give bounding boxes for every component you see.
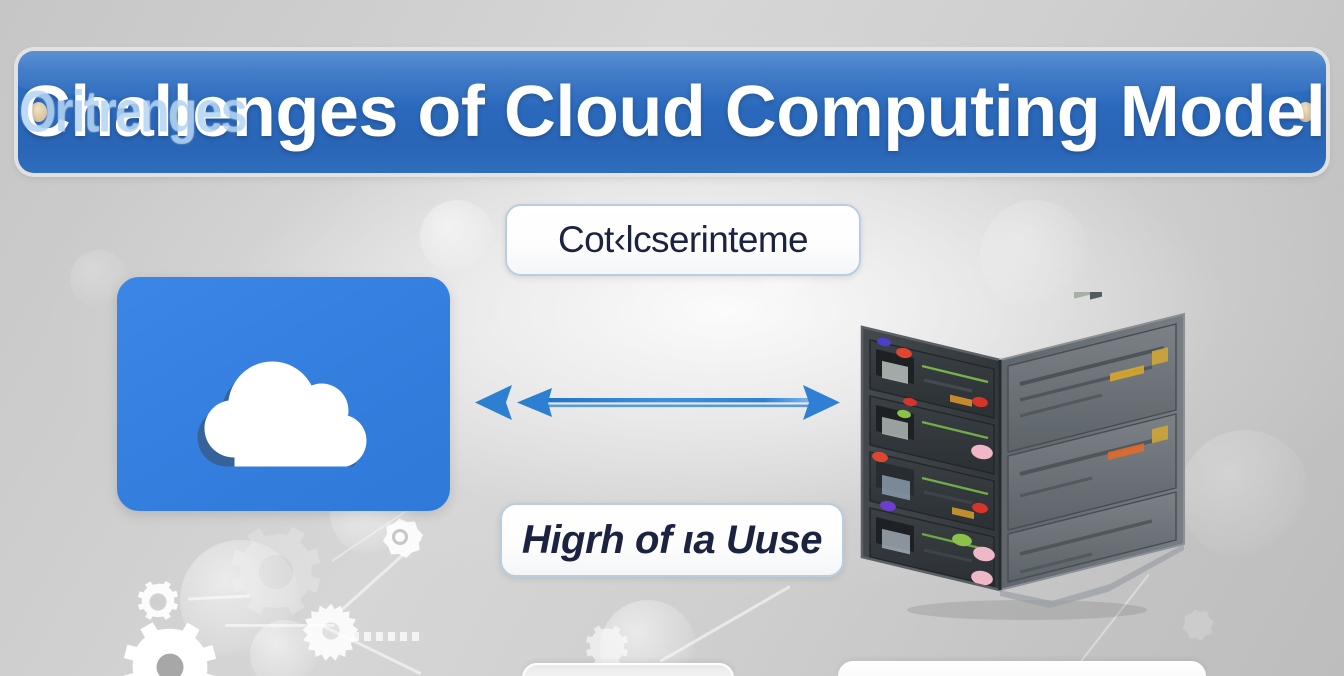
bokeh-circle	[250, 620, 320, 676]
title-wrap: Challenges of Cloud Computing Model Orit…	[19, 71, 1325, 153]
bokeh-circle	[420, 200, 494, 274]
connector-line	[225, 624, 335, 627]
slide-canvas: Challenges of Cloud Computing Model Orit…	[0, 0, 1344, 676]
label-pill-top[interactable]: Cot‹lcserinteme	[505, 204, 861, 276]
label-pill-bottom-text: Higrh of ιa Uuse	[522, 518, 822, 563]
bidirectional-arrow	[472, 378, 842, 426]
page-title: Challenges of Cloud Computing Model	[19, 71, 1325, 153]
title-banner: Challenges of Cloud Computing Model Orit…	[18, 51, 1326, 173]
dotted-connector	[352, 632, 424, 641]
gear-icon	[131, 575, 185, 629]
server-rack-illustration	[852, 292, 1192, 622]
label-pill-offscreen-left[interactable]	[522, 663, 734, 676]
cloud-card[interactable]	[117, 277, 450, 511]
label-pill-offscreen-right[interactable]	[838, 661, 1206, 676]
label-pill-bottom[interactable]: Higrh of ιa Uuse	[500, 503, 844, 577]
label-pill-top-text: Cot‹lcserinteme	[558, 219, 808, 261]
cloud-icon	[176, 331, 391, 466]
bokeh-circle	[1180, 430, 1310, 560]
